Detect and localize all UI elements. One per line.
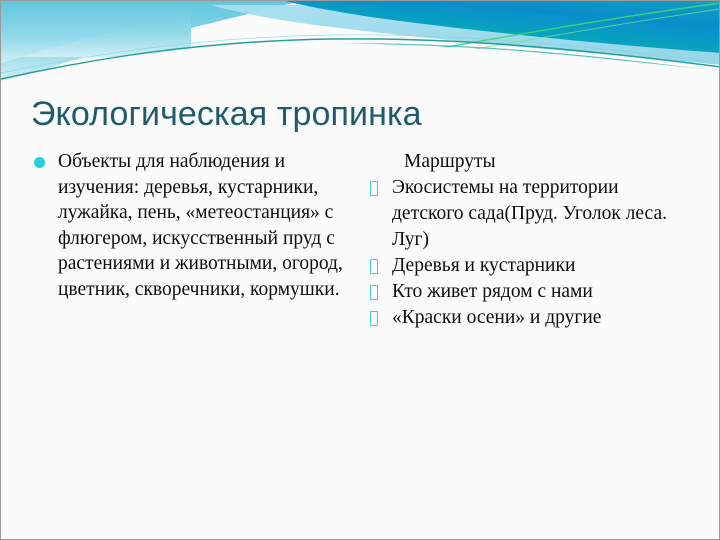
- hollow-box-bullet-icon: [370, 285, 378, 300]
- presentation-slide: Экологическая тропинка Объекты для наблю…: [0, 0, 720, 540]
- teal-wave-banner: [1, 1, 720, 93]
- list-item-label: «Краски осени» и другие: [392, 307, 601, 328]
- list-item: Экосистемы на территории детского сада(П…: [363, 175, 693, 253]
- list-item-label: Объекты для наблюдения и изучения: дерев…: [58, 151, 343, 300]
- right-bullet-list: Экосистемы на территории детского сада(П…: [363, 175, 693, 331]
- list-item: Кто живет рядом с нами: [363, 279, 693, 305]
- list-item-label: Кто живет рядом с нами: [392, 281, 593, 302]
- banner-waves: [1, 1, 720, 93]
- left-bullet-list: Объекты для наблюдения и изучения: дерев…: [29, 149, 347, 302]
- hollow-box-bullet-icon: [370, 259, 378, 274]
- hollow-box-bullet-icon: [370, 181, 378, 196]
- page-title: Экологическая тропинка: [31, 94, 691, 134]
- hollow-box-bullet-icon: [370, 311, 378, 326]
- list-item-label: Деревья и кустарники: [392, 255, 575, 276]
- list-item: Объекты для наблюдения и изучения: дерев…: [29, 149, 347, 302]
- list-item: Деревья и кустарники: [363, 253, 693, 279]
- right-content-column: Маршруты Экосистемы на территории детско…: [363, 149, 693, 331]
- list-item: «Краски осени» и другие: [363, 305, 693, 331]
- slide-body: Объекты для наблюдения и изучения: дерев…: [1, 149, 720, 479]
- left-content-column: Объекты для наблюдения и изучения: дерев…: [29, 149, 347, 302]
- filled-circle-bullet-icon: [34, 157, 45, 168]
- list-item-label: Экосистемы на территории детского сада(П…: [392, 177, 667, 250]
- right-column-heading: Маршруты: [363, 149, 693, 175]
